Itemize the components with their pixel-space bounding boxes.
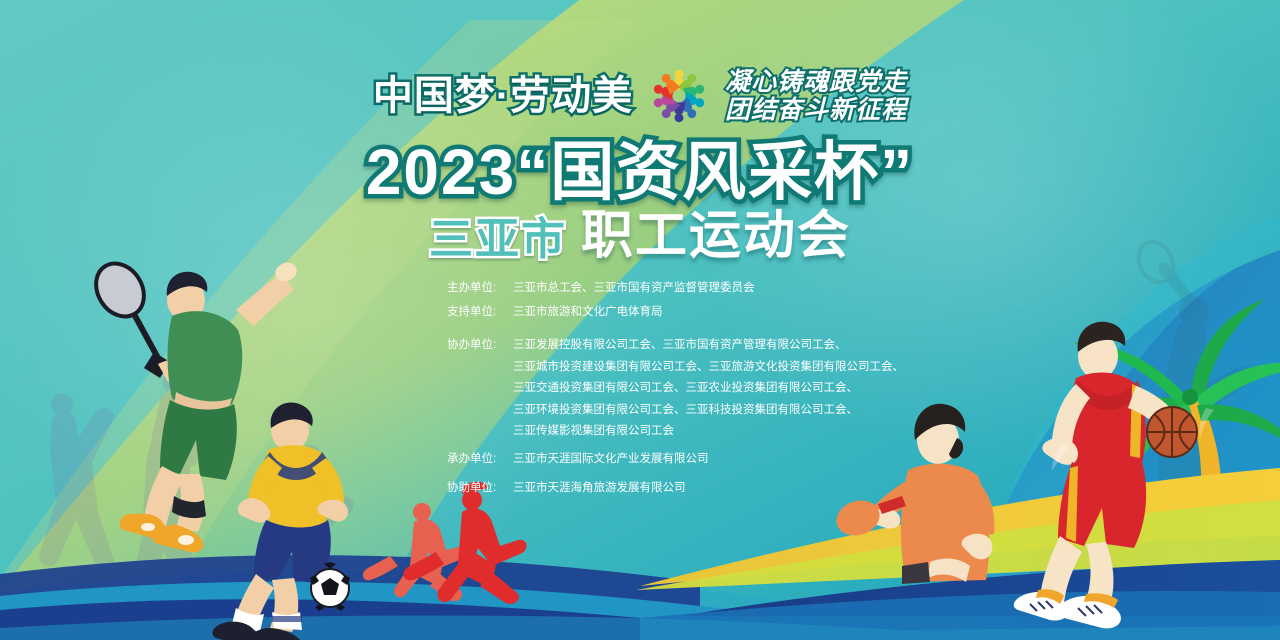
athlete-figures bbox=[0, 0, 1280, 640]
table-tennis-player bbox=[832, 404, 995, 584]
basketball-player bbox=[1014, 322, 1197, 629]
poster-canvas: 中国梦·劳动美 bbox=[0, 0, 1280, 640]
